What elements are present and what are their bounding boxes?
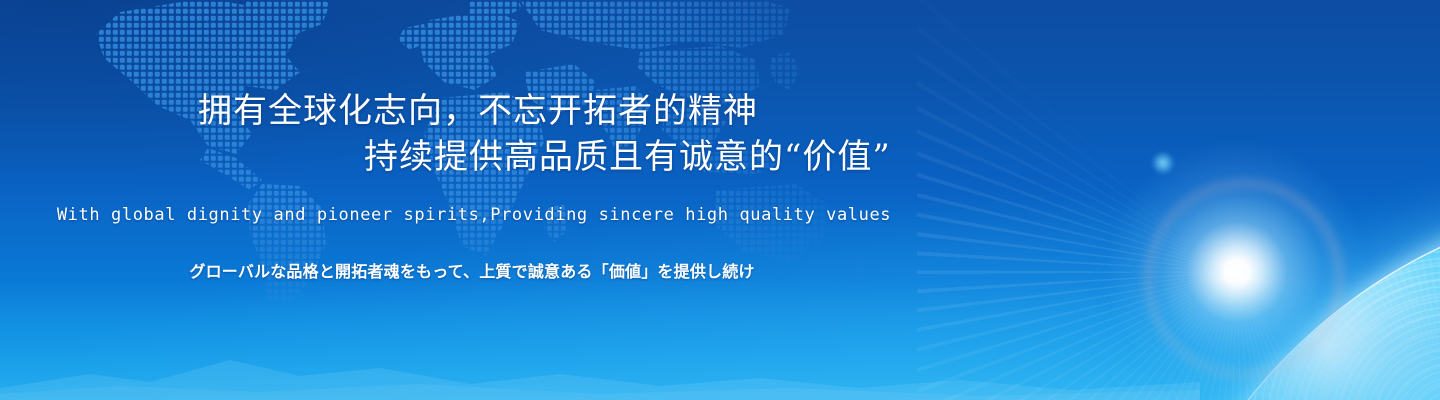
lens-flare-dot: [1152, 152, 1174, 174]
headline-line-2: 持续提供高品质且有诚意的“价值”: [0, 134, 1440, 180]
headline-line-1: 拥有全球化志向，不忘开拓者的精神: [0, 88, 1440, 134]
hero-banner: 拥有全球化志向，不忘开拓者的精神 持续提供高品质且有诚意的“价值” With g…: [0, 0, 1440, 400]
dotted-world-map: [0, 0, 960, 334]
subtitle-english: With global dignity and pioneer spirits,…: [0, 205, 1440, 225]
banner-copy: 拥有全球化志向，不忘开拓者的精神 持续提供高品质且有诚意的“价值” With g…: [0, 0, 1440, 400]
earth-globe: [1132, 196, 1440, 400]
sky-gradient-sheen: [0, 0, 1440, 400]
subtitle-japanese: グローバルな品格と開拓者魂をもって、上質で誠意ある「価値」を提供し続け: [0, 258, 1440, 282]
page-title: 拥有全球化志向，不忘开拓者的精神 持续提供高品质且有诚意的“价值”: [0, 88, 1440, 180]
mountain-ridge-silhouette: [0, 330, 1200, 400]
globe-surface-texture: [1132, 196, 1440, 400]
bottom-haze: [0, 280, 1440, 400]
